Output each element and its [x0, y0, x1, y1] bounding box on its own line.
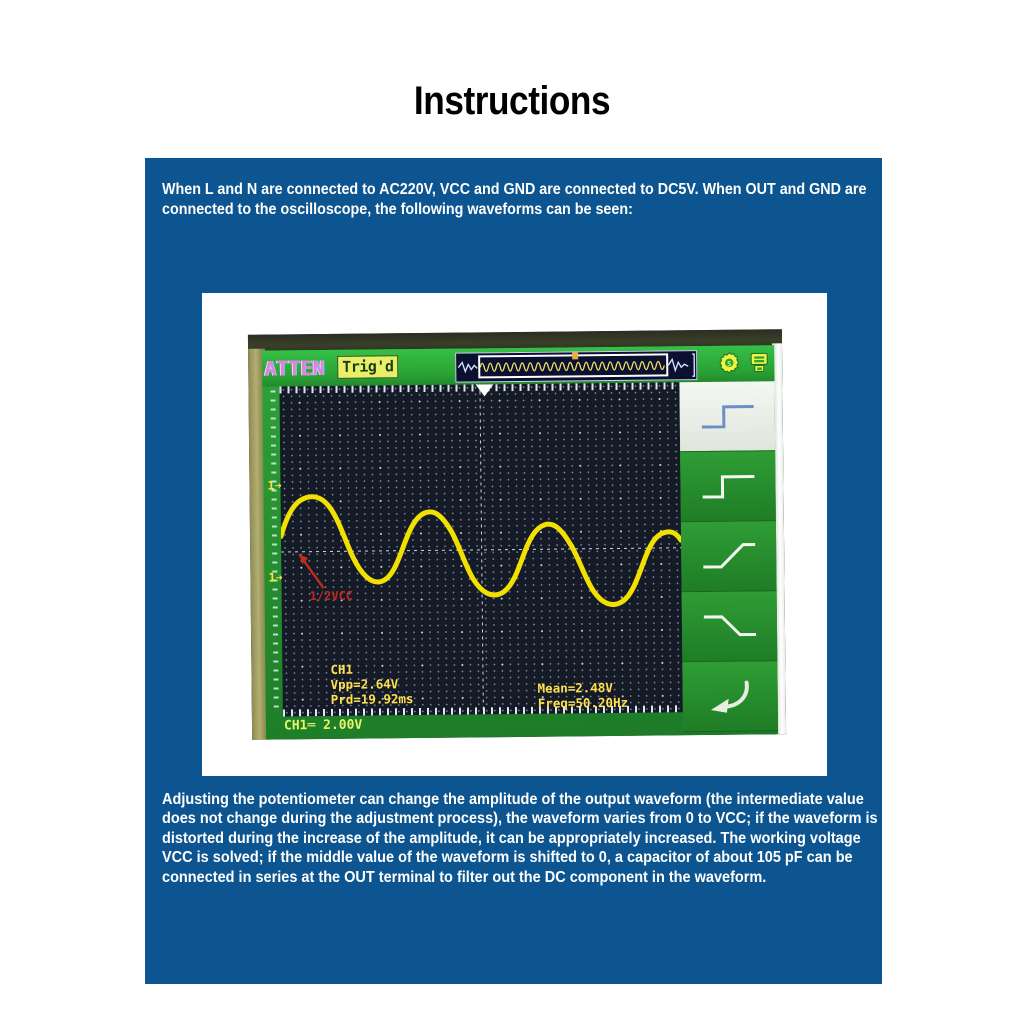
measurement-readout-left: CH1 Vpp=2.64V Prd=19.92ms — [330, 662, 413, 707]
channel1-ground-marker-top[interactable]: 1➔ — [267, 478, 282, 492]
half-vcc-pointer-arrow-icon — [297, 552, 331, 594]
oscilloscope-photo-frame: ATTEN Trig'd — [202, 293, 827, 776]
channel1-ground-marker-bottom[interactable]: 1➔ — [268, 570, 283, 584]
outro-paragraph: Adjusting the potentiometer can change t… — [162, 790, 887, 887]
softkey-menu — [679, 381, 778, 730]
memory-trigger-marker — [572, 352, 578, 359]
trigger-status-badge: Trig'd — [337, 355, 398, 379]
scope-top-icons: S — [717, 350, 770, 374]
scope-top-bar: ATTEN Trig'd — [262, 345, 774, 386]
settings-gear-icon[interactable]: S — [717, 351, 740, 374]
oscilloscope-photo: ATTEN Trig'd — [248, 329, 786, 740]
waveform-graticule: 1/2VCC CH1 Vpp=2.64V Prd=19.92ms Mean=2.… — [279, 382, 682, 716]
softkey-button-back[interactable] — [682, 661, 778, 732]
return-arrow-icon — [706, 676, 754, 717]
slope-down-icon — [699, 606, 759, 647]
rising-edge-icon — [697, 396, 757, 437]
vertical-scale-ticks — [270, 391, 278, 709]
instructions-blue-panel: When L and N are connected to AC220V, VC… — [145, 158, 882, 984]
rising-step-edge-icon — [698, 466, 758, 507]
oscilloscope-screen: ATTEN Trig'd — [262, 345, 778, 739]
usb-storage-icon[interactable] — [747, 350, 770, 373]
intro-paragraph: When L and N are connected to AC220V, VC… — [162, 180, 878, 220]
atten-brand-logo: ATTEN — [264, 356, 324, 381]
measurement-readout-right: Mean=2.48V Freq=50.20Hz — [538, 681, 629, 711]
channel1-scale-status: CH1═ 2.00V — [284, 718, 362, 734]
svg-text:S: S — [727, 360, 731, 368]
softkey-button-4[interactable] — [682, 591, 778, 662]
memory-overview-bar[interactable] — [455, 350, 697, 383]
softkey-button-3[interactable] — [681, 521, 777, 592]
slope-up-icon — [699, 536, 759, 577]
page-title: Instructions — [61, 79, 962, 124]
half-vcc-annotation-label: 1/2VCC — [310, 589, 354, 603]
softkey-button-1[interactable] — [679, 381, 775, 452]
instructions-page: Instructions When L and N are connected … — [0, 0, 1024, 1024]
softkey-button-2[interactable] — [680, 451, 776, 522]
